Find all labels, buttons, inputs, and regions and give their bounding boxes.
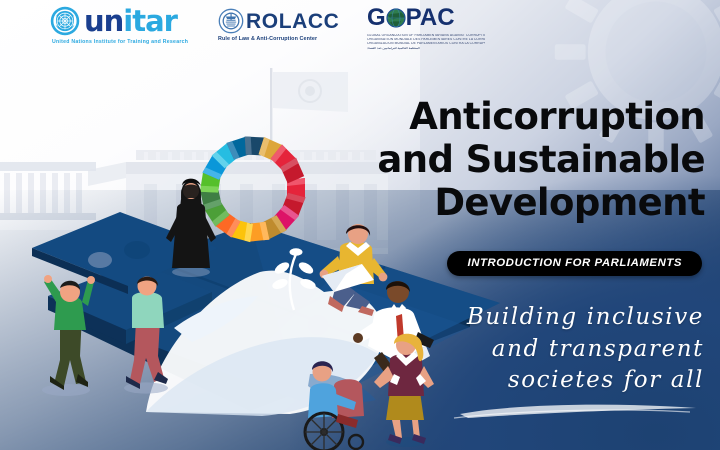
globe-icon <box>386 8 406 28</box>
figure-wheelchair-user <box>294 360 394 450</box>
logo-gopac[interactable]: G PAC GLOBAL ORGANIZATION OF PARLIAMENTA… <box>367 6 455 30</box>
logo-unitar[interactable]: unitar United Nations Institute for Trai… <box>50 6 177 36</box>
gopac-tagline-line: المنظمة العالمية للبرلمانيين ضد الفساد <box>367 47 485 50</box>
page-title: Anticorruption and Sustainable Developme… <box>360 96 705 225</box>
gopac-tagline-line: ORGANISATION MONDIALE DES PARLEMENTAIRES… <box>367 38 485 41</box>
logo-bar: unitar United Nations Institute for Trai… <box>0 0 520 56</box>
title-line-3: Development <box>360 182 705 225</box>
figure-mint-shirt <box>112 272 182 398</box>
flourish-underline <box>452 398 702 422</box>
gopac-tagline-line: GLOBAL ORGANIZATION OF PARLIAMENTARIANS … <box>367 34 485 37</box>
tagline-line-2: and transparent <box>404 334 704 366</box>
tagline-line-3: societes for all <box>404 365 704 397</box>
figure-green-shirt <box>30 268 108 398</box>
title-line-1: Anticorruption <box>360 96 705 139</box>
title-line-2: and Sustainable <box>360 139 705 182</box>
unitar-word-secondary: itar <box>123 4 177 38</box>
gopac-wordmark: G PAC <box>367 6 455 30</box>
un-emblem-icon <box>50 6 80 36</box>
gopac-tagline: GLOBAL ORGANIZATION OF PARLIAMENTARIANS … <box>367 34 485 50</box>
rolacc-tagline: Rule of Law & Anti-Corruption Center <box>218 36 358 42</box>
status-badge: INTRODUCTION FOR PARLIAMENTS <box>447 251 702 276</box>
tagline: Building inclusive and transparent socie… <box>404 302 704 397</box>
logo-rolacc[interactable]: ROLACC Rule of Law & Anti-Corruption Cen… <box>218 8 339 34</box>
poster-canvas: unitar United Nations Institute for Trai… <box>0 0 720 450</box>
rolacc-seal-icon <box>218 8 244 34</box>
gopac-word-before: G <box>367 6 386 30</box>
gopac-tagline-line: ORGANIZACION MUNDIAL DE PARLAMENTARIOS C… <box>367 42 485 45</box>
figure-black-abaya <box>160 168 222 278</box>
unitar-wordmark: unitar <box>84 7 177 36</box>
unitar-word-primary: un <box>84 4 123 38</box>
tagline-line-1: Building inclusive <box>404 302 704 334</box>
rolacc-wordmark: ROLACC <box>246 11 339 32</box>
gopac-word-after: PAC <box>406 6 455 30</box>
unitar-tagline: United Nations Institute for Training an… <box>52 39 237 45</box>
